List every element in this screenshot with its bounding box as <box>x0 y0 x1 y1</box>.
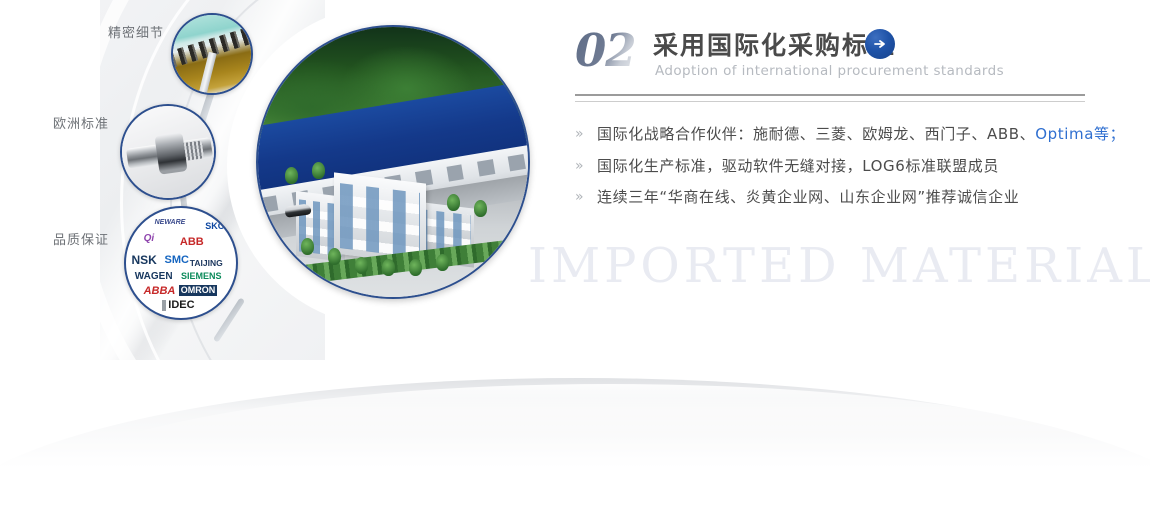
brand-logo-taijing: TAIJING <box>190 259 223 268</box>
header-divider <box>575 94 1085 102</box>
precision-gear-photo <box>171 13 253 95</box>
brand-logo-neware: NEWARE <box>155 219 186 226</box>
brand-logos-photo: NEWARESKOQiABBNSKSMCTAIJINGWAGENSIEMENSA… <box>124 206 238 320</box>
list-item: »国际化战略合作伙伴：施耐德、三菱、欧姆龙、西门子、ABB、Optima等； <box>575 126 1085 143</box>
list-item-text: 国际化生产标准，驱动软件无缝对接，LOG6标准联盟成员 <box>597 157 999 175</box>
factory-aerial-photo <box>256 25 530 299</box>
brand-logo-qi: Qi <box>144 234 155 244</box>
brand-logo-abba: ABBA <box>144 286 176 297</box>
feature-list: »国际化战略合作伙伴：施耐德、三菱、欧姆龙、西门子、ABB、Optima等；»国… <box>575 126 1085 206</box>
brand-logo-idec: IDEC <box>162 300 194 311</box>
chevron-right-icon: » <box>575 127 584 142</box>
label-quality-assurance: 品质保证 <box>53 229 109 248</box>
page-subtitle: Adoption of international procurement st… <box>655 63 1004 79</box>
page-title: 采用国际化采购标准 <box>653 26 896 62</box>
ball-screw-nut <box>154 132 187 174</box>
brand-logo-wagen: WAGEN <box>135 272 173 282</box>
label-precision-detail: 精密细节 <box>108 22 164 41</box>
list-item-text: 国际化战略合作伙伴：施耐德、三菱、欧姆龙、西门子、ABB、 <box>597 125 1035 143</box>
section-header: 02 采用国际化采购标准 Adoption of international p… <box>575 22 1085 94</box>
bottom-curve-highlight <box>20 384 1150 504</box>
watermark-text: IMPORTED MATERIAL <box>528 238 1150 294</box>
brand-logo-abb: ABB <box>180 237 204 248</box>
list-item: »国际化生产标准，驱动软件无缝对接，LOG6标准联盟成员 <box>575 158 1085 175</box>
label-european-standard: 欧洲标准 <box>53 113 109 132</box>
brand-logo-sko: SKO <box>205 222 225 231</box>
arrow-right-icon[interactable] <box>865 29 895 59</box>
list-item-accent-text[interactable]: Optima等； <box>1035 125 1125 143</box>
ball-screw-photo <box>120 104 216 200</box>
brand-logo-smc: SMC <box>165 255 189 266</box>
chevron-right-icon: » <box>575 159 584 174</box>
brand-logo-nsk: NSK <box>132 254 157 266</box>
list-item-text: 连续三年“华商在线、炎黄企业网、山东企业网”推荐诚信企业 <box>597 188 1019 206</box>
section-number: 02 <box>575 24 636 77</box>
brand-logo-omron: OMRON <box>179 285 218 296</box>
content-column: 02 采用国际化采购标准 Adoption of international p… <box>575 22 1085 222</box>
list-item: »连续三年“华商在线、炎黄企业网、山东企业网”推荐诚信企业 <box>575 189 1085 206</box>
chevron-right-icon: » <box>575 190 584 205</box>
brand-logo-siemens: SIEMENS <box>181 272 222 281</box>
